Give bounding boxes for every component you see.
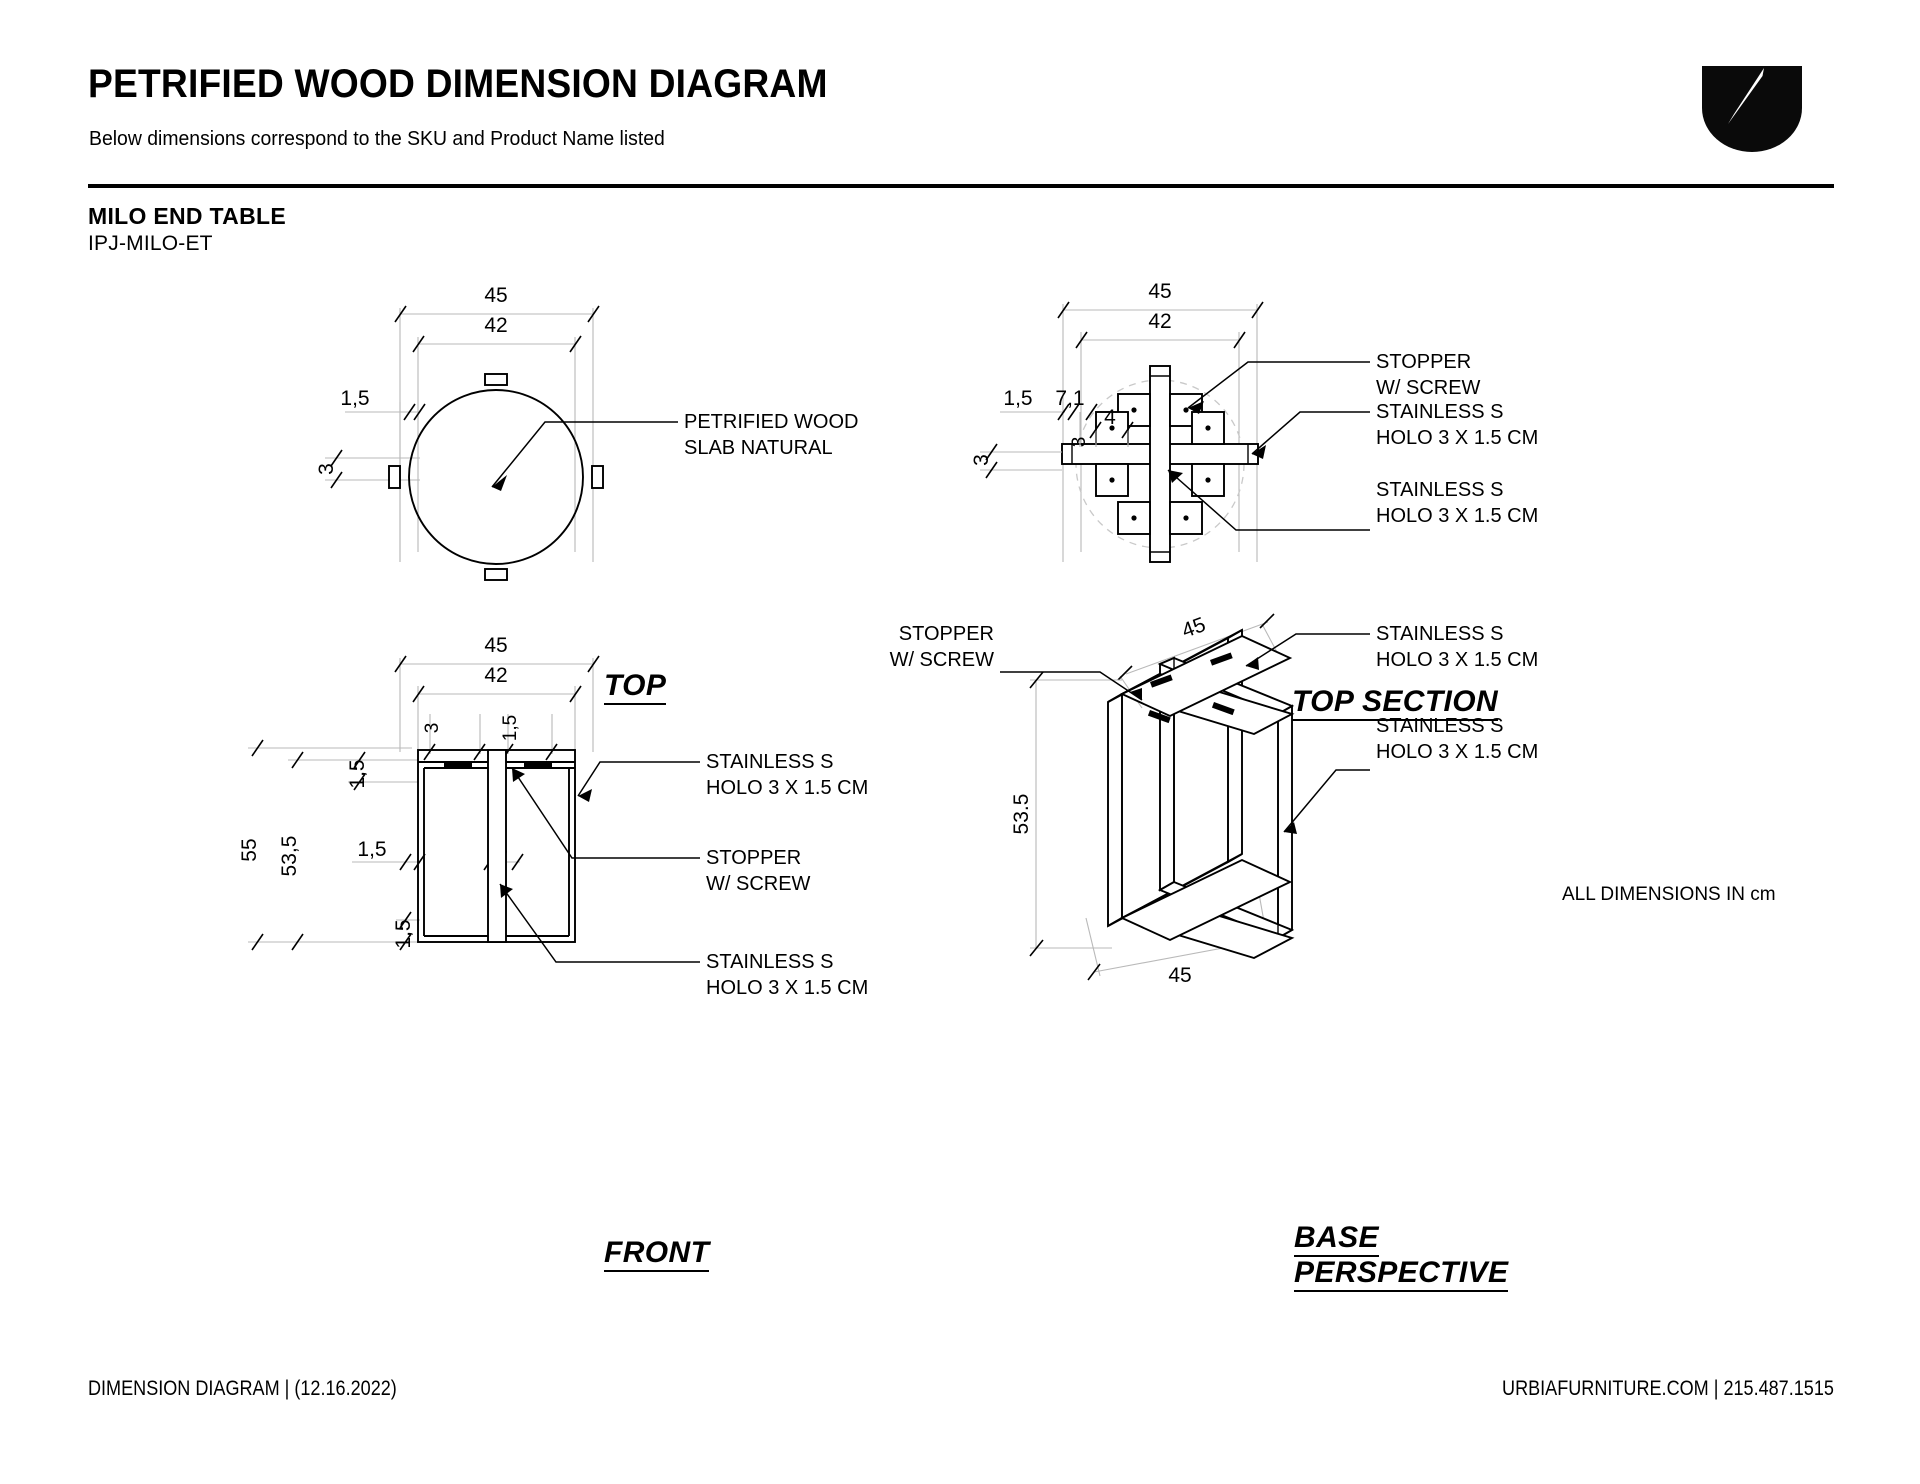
- technical-drawing-canvas: 45 42 1,5 3 PETRIF: [0, 262, 1920, 1322]
- view-caption-base-line1: BASE: [1294, 1222, 1379, 1257]
- callout-bp-stainless1-line1: STAINLESS S: [1376, 623, 1503, 645]
- header-divider: [88, 184, 1834, 188]
- view-caption-base-perspective: BASE PERSPECTIVE: [1294, 1222, 1508, 1292]
- view-front: 45 42 3 1,5 55 53,: [238, 634, 868, 999]
- callout-ts-stainless2-line2: HOLO 3 X 1.5 CM: [1376, 505, 1538, 527]
- callout-front-stainless1-line2: HOLO 3 X 1.5 CM: [706, 777, 868, 799]
- dim-bp-45-bottom: 45: [1168, 964, 1191, 987]
- callout-front-stopper-line2: W/ SCREW: [706, 873, 811, 895]
- dim-bp-53-5: 53.5: [1010, 794, 1033, 835]
- urbia-shield-logo-icon: [1700, 64, 1804, 152]
- dim-front-55: 55: [238, 838, 261, 861]
- product-name: MILO END TABLE: [88, 203, 286, 230]
- dim-front-1-5-b: 1,5: [357, 838, 386, 861]
- footer-right: URBIAFURNITURE.COM | 215.487.1515: [1502, 1377, 1834, 1401]
- dim-top-42: 42: [484, 314, 507, 337]
- dim-ts-42: 42: [1148, 310, 1171, 333]
- callout-ts-stainless1-line2: HOLO 3 X 1.5 CM: [1376, 427, 1538, 449]
- view-caption-top-text: TOP: [604, 670, 666, 705]
- drawing-sheet: PETRIFIED WOOD DIMENSION DIAGRAM Below d…: [0, 0, 1920, 1484]
- dim-front-42: 42: [484, 664, 507, 687]
- view-caption-front: FRONT: [604, 1237, 709, 1272]
- dim-ts-45: 45: [1148, 280, 1171, 303]
- callout-ts-stopper-line2: W/ SCREW: [1376, 377, 1481, 399]
- callout-petrified-wood-line2: SLAB NATURAL: [684, 437, 833, 459]
- callout-front-stainless1-line1: STAINLESS S: [706, 751, 833, 773]
- view-caption-top: TOP: [604, 670, 666, 705]
- dim-ts-7-1: 7,1: [1055, 387, 1084, 410]
- callout-bp-stopper-line2: W/ SCREW: [890, 649, 995, 671]
- view-caption-front-text: FRONT: [604, 1237, 709, 1272]
- view-base-perspective: 45 53.5 45: [890, 613, 1539, 987]
- dim-front-53-5: 53,5: [278, 836, 301, 877]
- page-title: PETRIFIED WOOD DIMENSION DIAGRAM: [88, 62, 828, 107]
- view-top-section: 45 42: [970, 280, 1538, 562]
- callout-ts-stainless2-line1: STAINLESS S: [1376, 479, 1503, 501]
- dim-ts-1-5: 1,5: [1003, 387, 1032, 410]
- base-frame-geometry: [1108, 630, 1292, 958]
- dim-ts-3a: 3: [970, 454, 993, 466]
- callout-front-stainless2-line2: HOLO 3 X 1.5 CM: [706, 977, 868, 999]
- callout-ts-stainless1-line1: STAINLESS S: [1376, 401, 1503, 423]
- dim-top-1-5: 1,5: [340, 387, 369, 410]
- page-subtitle: Below dimensions correspond to the SKU a…: [89, 128, 665, 151]
- dim-front-1-5-a: 1,5: [346, 759, 369, 788]
- callout-bp-stainless2-line2: HOLO 3 X 1.5 CM: [1376, 741, 1538, 763]
- product-sku: IPJ-MILO-ET: [88, 232, 213, 256]
- dim-ts-4: 4: [1104, 406, 1116, 429]
- dim-front-1-5-top: 1,5: [500, 715, 521, 741]
- callout-bp-stainless1-line2: HOLO 3 X 1.5 CM: [1376, 649, 1538, 671]
- dim-top-45: 45: [484, 284, 507, 307]
- dim-front-45: 45: [484, 634, 507, 657]
- dim-bp-45-top: 45: [1179, 613, 1209, 643]
- view-caption-top-section: TOP SECTION: [1292, 686, 1498, 721]
- footer-left: DIMENSION DIAGRAM | (12.16.2022): [88, 1377, 397, 1401]
- callout-front-stainless2-line1: STAINLESS S: [706, 951, 833, 973]
- dim-ts-3b: 3: [1069, 437, 1090, 448]
- callout-front-stopper-line1: STOPPER: [706, 847, 801, 869]
- view-caption-top-section-text: TOP SECTION: [1292, 686, 1498, 721]
- view-caption-base-line2: PERSPECTIVE: [1294, 1257, 1508, 1292]
- callout-ts-stopper-line1: STOPPER: [1376, 351, 1471, 373]
- dim-front-3-top: 3: [422, 723, 443, 734]
- callout-petrified-wood-line1: PETRIFIED WOOD: [684, 411, 858, 433]
- dim-top-3: 3: [315, 463, 338, 475]
- view-top: 45 42 1,5 3 PETRIF: [315, 284, 858, 580]
- dim-front-1-5-c: 1,5: [392, 919, 415, 948]
- callout-bp-stopper-line1: STOPPER: [899, 623, 994, 645]
